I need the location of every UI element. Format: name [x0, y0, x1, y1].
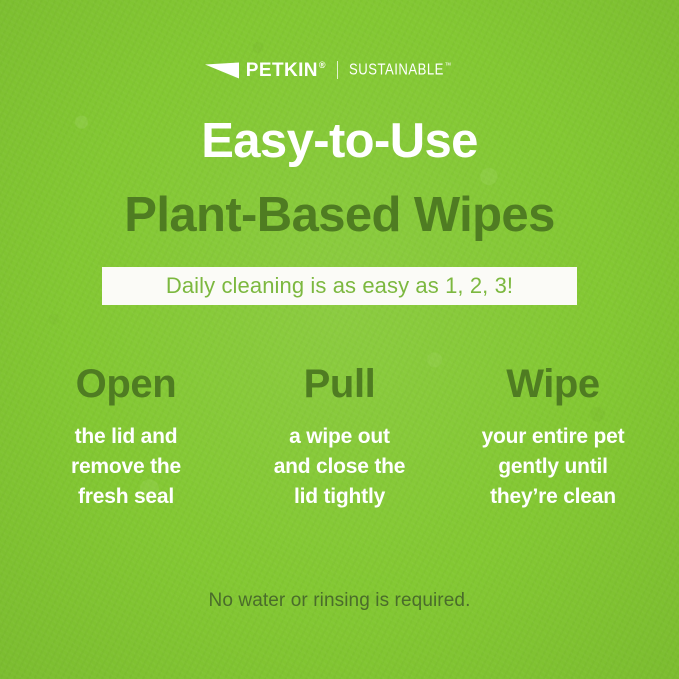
footer-note: No water or rinsing is required.: [0, 590, 679, 612]
brand-name: PETKIN®: [246, 61, 326, 80]
ribbon-banner: Daily cleaning is as easy as 1, 2, 3!: [102, 267, 577, 305]
product-infographic-poster: PETKIN® SUSTAINABLE™ Easy-to-Use Plant-B…: [0, 0, 679, 679]
step-body-line: fresh seal: [26, 482, 226, 512]
brand-sub-name: SUSTAINABLE™: [349, 62, 452, 78]
step-body: a wipe out and close the lid tightly: [240, 422, 440, 511]
step-body-line: your entire pet: [453, 422, 653, 452]
registered-trademark-icon: ®: [319, 60, 326, 70]
steps-row: Open the lid and remove the fresh seal P…: [26, 364, 653, 511]
step-title: Open: [26, 364, 226, 404]
step-open: Open the lid and remove the fresh seal: [26, 364, 226, 511]
vignette-overlay: [0, 0, 679, 679]
paper-texture-overlay: [0, 0, 679, 679]
headline-line-2: Plant-Based Wipes: [0, 190, 679, 241]
step-body: your entire pet gently until they’re cle…: [453, 422, 653, 511]
step-body-line: a wipe out: [240, 422, 440, 452]
step-title: Pull: [240, 364, 440, 404]
step-body-line: the lid and: [26, 422, 226, 452]
step-title: Wipe: [453, 364, 653, 404]
ribbon-text: Daily cleaning is as easy as 1, 2, 3!: [102, 267, 577, 305]
headline-line-1: Easy-to-Use: [0, 116, 679, 167]
trademark-icon: ™: [445, 61, 452, 70]
brand-lockup: PETKIN® SUSTAINABLE™: [0, 58, 679, 82]
step-body-line: gently until: [453, 452, 653, 482]
step-pull: Pull a wipe out and close the lid tightl…: [240, 364, 440, 511]
step-body: the lid and remove the fresh seal: [26, 422, 226, 511]
brand-divider: [337, 61, 338, 79]
petkin-swoosh-icon: [205, 62, 239, 79]
step-body-line: and close the: [240, 452, 440, 482]
step-body-line: lid tightly: [240, 482, 440, 512]
step-body-line: remove the: [26, 452, 226, 482]
step-body-line: they’re clean: [453, 482, 653, 512]
step-wipe: Wipe your entire pet gently until they’r…: [453, 364, 653, 511]
